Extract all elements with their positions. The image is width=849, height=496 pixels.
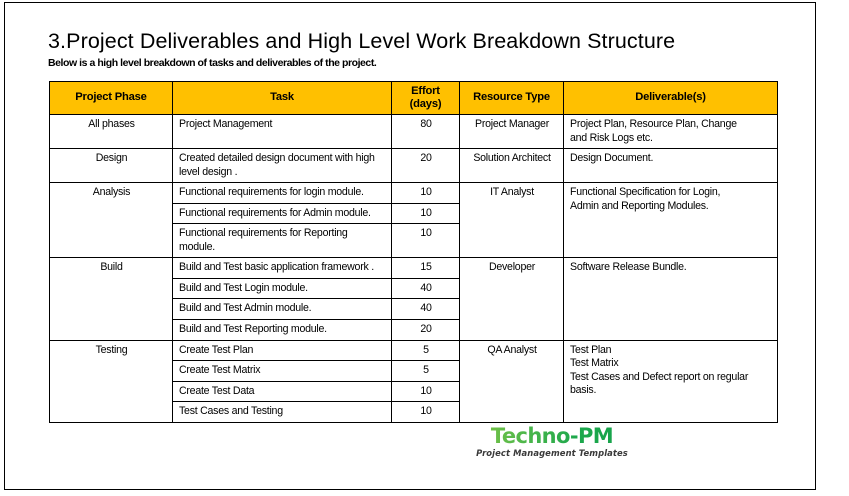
cell-effort-days: 10 [392,183,460,204]
table-body: All phasesProject Management80Project Ma… [50,115,778,423]
cell-resource-type: QA Analyst [460,340,564,422]
deliverable-line: Design Document. [570,152,772,166]
watermark-tagline-text: Project Management Templates [457,449,647,457]
cell-project-phase: Testing [50,340,173,422]
cell-resource-type: Developer [460,258,564,340]
deliverable-line: Test Plan [570,344,772,358]
cell-resource-type: IT Analyst [460,183,564,258]
deliverable-line: and Risk Logs etc. [570,132,772,146]
deliverable-line: Admin and Reporting Modules. [570,200,772,214]
cell-effort-days: 20 [392,149,460,183]
column-header-resource-type: Resource Type [460,82,564,115]
cell-task: Created detailed design document with hi… [173,149,392,183]
cell-effort-days: 40 [392,299,460,320]
cell-task: Create Test Matrix [173,361,392,382]
cell-effort-days: 5 [392,340,460,361]
cell-project-phase: Build [50,258,173,340]
column-header-deliverables: Deliverable(s) [564,82,778,115]
cell-effort-days: 40 [392,278,460,299]
heading-block: 3.Project Deliverables and High Level Wo… [48,29,788,69]
page-subtitle: Below is a high level breakdown of tasks… [48,57,788,69]
cell-effort-days: 10 [392,381,460,402]
wbs-table-container: Project Phase Task Effort (days) Resourc… [49,81,777,423]
cell-task: Create Test Plan [173,340,392,361]
deliverable-line: Test Matrix [570,357,772,371]
document-page: 3.Project Deliverables and High Level Wo… [4,2,816,490]
cell-deliverables: Functional Specification for Login,Admin… [564,183,778,258]
table-header-row: Project Phase Task Effort (days) Resourc… [50,82,778,115]
column-header-effort: Effort (days) [392,82,460,115]
cell-task: Build and Test Login module. [173,278,392,299]
cell-task: Functional requirements for Admin module… [173,203,392,224]
cell-project-phase: Analysis [50,183,173,258]
cell-task: Test Cases and Testing [173,402,392,423]
work-breakdown-structure-table: Project Phase Task Effort (days) Resourc… [49,81,778,423]
cell-resource-type: Project Manager [460,115,564,149]
cell-effort-days: 10 [392,203,460,224]
cell-task: Build and Test Reporting module. [173,320,392,341]
cell-effort-days: 20 [392,320,460,341]
column-header-task: Task [173,82,392,115]
table-row: DesignCreated detailed design document w… [50,149,778,183]
cell-task: Create Test Data [173,381,392,402]
cell-deliverables: Project Plan, Resource Plan, Changeand R… [564,115,778,149]
watermark-brand-text: Techno-PM [457,426,647,447]
cell-task: Build and Test basic application framewo… [173,258,392,279]
cell-task: Functional requirements for login module… [173,183,392,204]
deliverable-line: Project Plan, Resource Plan, Change [570,118,772,132]
deliverable-line: Functional Specification for Login, [570,186,772,200]
table-row: BuildBuild and Test basic application fr… [50,258,778,279]
techno-pm-watermark: Techno-PM Project Management Templates [457,426,647,457]
table-row: TestingCreate Test Plan5QA AnalystTest P… [50,340,778,361]
deliverable-line: Test Cases and Defect report on regular [570,371,772,385]
page-title: 3.Project Deliverables and High Level Wo… [48,29,788,53]
cell-effort-days: 80 [392,115,460,149]
cell-project-phase: All phases [50,115,173,149]
cell-resource-type: Solution Architect [460,149,564,183]
cell-deliverables: Software Release Bundle. [564,258,778,340]
cell-task: Project Management [173,115,392,149]
cell-deliverables: Design Document. [564,149,778,183]
column-header-project-phase: Project Phase [50,82,173,115]
cell-effort-days: 10 [392,224,460,258]
table-header: Project Phase Task Effort (days) Resourc… [50,82,778,115]
table-row: All phasesProject Management80Project Ma… [50,115,778,149]
deliverable-line: Software Release Bundle. [570,261,772,275]
cell-effort-days: 10 [392,402,460,423]
cell-deliverables: Test PlanTest MatrixTest Cases and Defec… [564,340,778,422]
cell-effort-days: 15 [392,258,460,279]
column-header-effort-line1: Effort [411,85,440,97]
table-row: AnalysisFunctional requirements for logi… [50,183,778,204]
column-header-effort-line2: (days) [410,98,442,110]
deliverable-line: basis. [570,384,772,398]
cell-task: Functional requirements for Reporting mo… [173,224,392,258]
cell-effort-days: 5 [392,361,460,382]
cell-task: Build and Test Admin module. [173,299,392,320]
cell-project-phase: Design [50,149,173,183]
